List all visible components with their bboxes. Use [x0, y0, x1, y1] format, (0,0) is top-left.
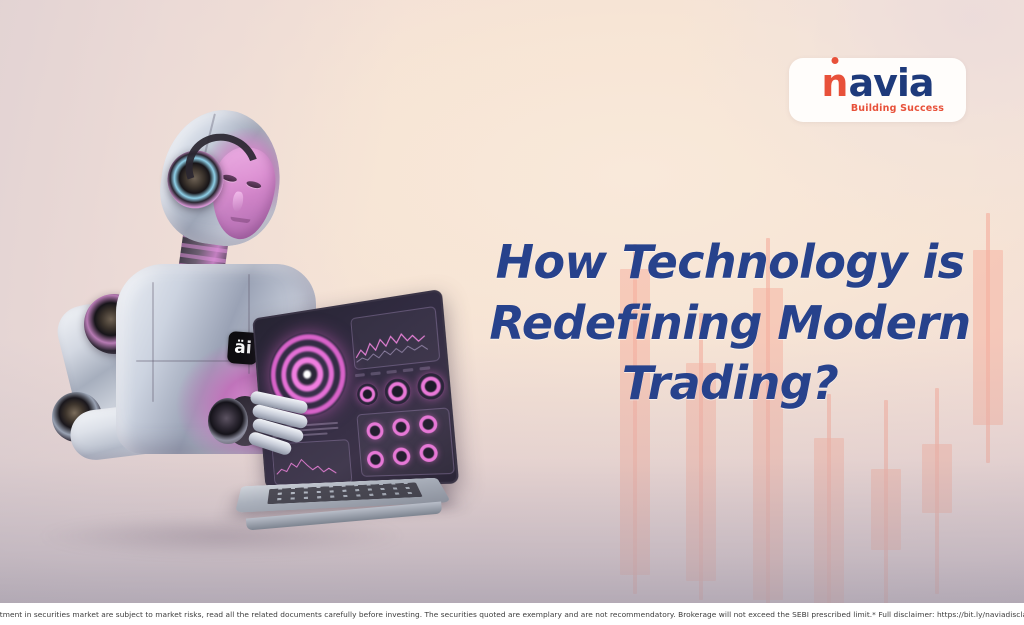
dashboard-area-icon — [273, 454, 340, 481]
robot-mouth — [230, 217, 250, 224]
dashboard-sparkline-icon — [353, 325, 431, 365]
headline-line-3: Trading? — [480, 353, 980, 414]
logo-tagline: Building Success — [851, 103, 944, 114]
logo-wordmark: n avia — [821, 66, 933, 101]
dashboard-gauge-1 — [356, 382, 379, 406]
page-title: How Technology is Redefining Modern Trad… — [480, 232, 980, 414]
robot-illustration: äi — [12, 96, 442, 566]
dashboard-line-panel — [350, 306, 440, 370]
dashboard-gauge-3 — [416, 371, 446, 401]
promo-banner: äi — [0, 0, 1024, 625]
disclaimer-text: Investment in securities market are subj… — [0, 610, 1024, 619]
logo-rest: avia — [848, 66, 933, 101]
laptop-keyboard — [267, 482, 423, 504]
robot-head — [153, 102, 289, 252]
dashboard-gauge-2 — [383, 377, 412, 406]
headline-line-1: How Technology is — [480, 232, 980, 293]
laptop-screen — [252, 289, 459, 489]
robot-wrist — [208, 398, 248, 444]
navia-logo[interactable]: n avia Building Success — [789, 58, 966, 122]
logo-dot-icon — [831, 57, 838, 64]
headline-line-2: Redefining Modern — [480, 293, 980, 354]
dashboard-dot-panel — [356, 407, 455, 477]
logo-initial: n — [821, 66, 848, 101]
disclaimer-bar: Investment in securities market are subj… — [0, 603, 1024, 625]
